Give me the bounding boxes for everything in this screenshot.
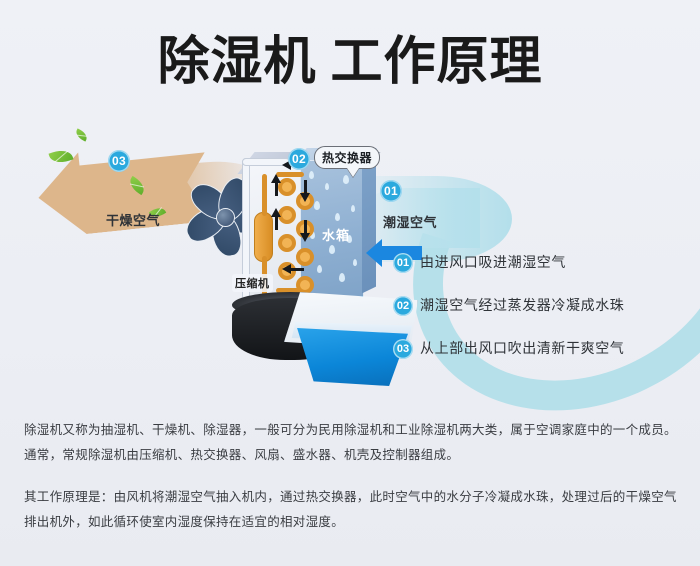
water-tank-label: 水箱	[322, 225, 350, 244]
legend-badge-01: 01	[393, 253, 413, 273]
legend-item: 02 潮湿空气经过蒸发器冷凝成水珠	[393, 295, 683, 338]
legend-item: 01 由进风口吸进潮湿空气	[393, 252, 683, 295]
title-part-2: 工作原理	[331, 33, 543, 91]
legend-text-01: 由进风口吸进潮湿空气	[420, 252, 566, 272]
legend-text-03: 从上部出风口吹出清新干爽空气	[420, 338, 624, 358]
body-paragraph-2: 其工作原理是：由风机将潮湿空气抽入机内，通过热交换器，此时空气中的水分子冷凝成水…	[24, 485, 680, 535]
title-text: 除湿机工作原理	[157, 33, 542, 91]
accumulator	[254, 212, 273, 262]
air-intake-arrowhead	[366, 239, 382, 267]
diagram-badge-03: 03	[108, 150, 130, 172]
page-title: 除湿机工作原理	[0, 33, 700, 91]
legend-badge-02: 02	[393, 296, 413, 316]
diagram-badge-01: 01	[380, 180, 402, 202]
legend-item: 03 从上部出风口吹出清新干爽空气	[393, 338, 683, 381]
compressor-label: 压缩机	[232, 274, 273, 292]
legend-text-02: 潮湿空气经过蒸发器冷凝成水珠	[420, 295, 624, 315]
legend-list: 01 由进风口吸进潮湿空气 02 潮湿空气经过蒸发器冷凝成水珠 03 从上部出风…	[393, 252, 683, 381]
diagram-badge-02: 02	[288, 148, 310, 170]
infographic-page: 除湿机工作原理	[0, 0, 700, 566]
body-paragraph-1: 除湿机又称为抽湿机、干燥机、除湿器，一般可分为民用除湿机和工业除湿机两大类，属于…	[24, 418, 680, 468]
evaporator-side	[362, 151, 376, 294]
title-part-1: 除湿机	[157, 33, 316, 91]
leaf-icon	[74, 128, 89, 141]
legend-badge-03: 03	[393, 339, 413, 359]
dry-air-label: 干燥空气	[106, 210, 160, 229]
water-tank	[290, 328, 408, 386]
humid-air-label: 潮湿空气	[383, 212, 437, 231]
heat-exchanger-callout: 热交换器	[314, 146, 380, 169]
body-copy: 除湿机又称为抽湿机、干燥机、除湿器，一般可分为民用除湿机和工业除湿机两大类，属于…	[24, 418, 680, 535]
